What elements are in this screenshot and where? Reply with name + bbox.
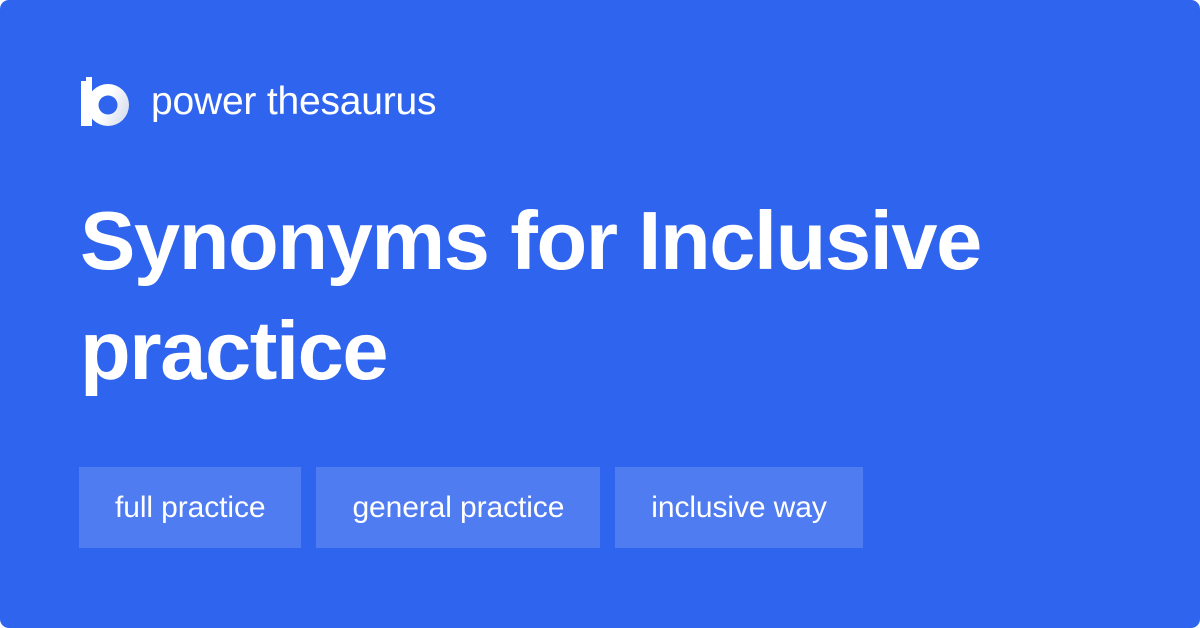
synonym-chip[interactable]: full practice xyxy=(79,467,301,548)
synonym-chip[interactable]: general practice xyxy=(316,467,600,548)
synonym-chip[interactable]: inclusive way xyxy=(615,467,862,548)
page-title: Synonyms for Inclusive practice xyxy=(80,186,1090,407)
synonym-chip-list: full practice general practice inclusive… xyxy=(79,467,863,548)
brand-name: power thesaurus xyxy=(151,82,436,121)
brand-header[interactable]: power thesaurus xyxy=(80,72,436,130)
power-thesaurus-b-logo-icon xyxy=(80,75,130,127)
share-card: power thesaurus Synonyms for Inclusive p… xyxy=(0,0,1200,628)
